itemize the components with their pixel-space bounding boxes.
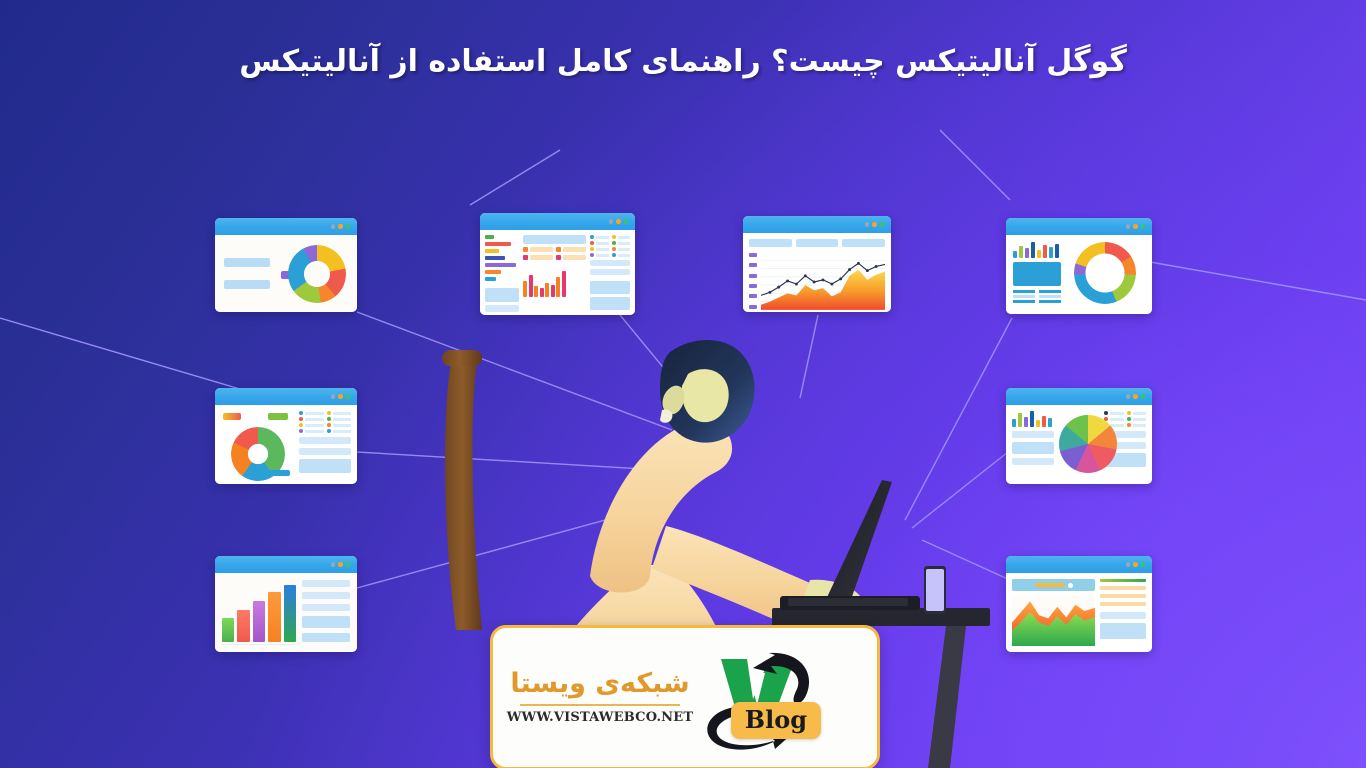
toggle-row[interactable] xyxy=(1012,579,1095,591)
kpi-chip xyxy=(842,239,885,247)
y-axis-legend xyxy=(749,252,757,310)
page-title: گوگل آنالیتیکس چیست؟ راهنمای کامل استفاد… xyxy=(0,40,1366,84)
window-dot-orange xyxy=(338,224,343,229)
kpi-chip xyxy=(749,239,792,247)
window-dot-green xyxy=(1141,394,1146,399)
head xyxy=(660,340,755,443)
pie-chart xyxy=(1059,415,1117,473)
area-line-chart xyxy=(761,252,885,310)
kpi-panel xyxy=(1013,262,1061,286)
window-titlebar xyxy=(480,213,635,230)
dashboard-card-donut-labels[interactable] xyxy=(215,218,357,312)
brand-url: WWW.VISTAWEBCO.NET xyxy=(507,710,694,725)
bar-chart xyxy=(523,267,586,297)
divider xyxy=(520,704,680,706)
dashboard-card-column-bars[interactable] xyxy=(215,556,357,652)
dashboard-card-analytics-table-bars[interactable] xyxy=(480,213,635,315)
poster-canvas: گوگل آنالیتیکس چیست؟ راهنمای کامل استفاد… xyxy=(0,0,1366,768)
window-dot-orange xyxy=(338,394,343,399)
window-dot-orange xyxy=(872,222,877,227)
callout-chip xyxy=(268,470,290,476)
donut-chart xyxy=(1074,242,1136,304)
callout-chip xyxy=(268,413,288,420)
window-dot-gray xyxy=(865,222,870,227)
dashboard-card-donut-kpi[interactable] xyxy=(1006,218,1152,314)
window-titlebar xyxy=(215,218,357,235)
window-dot-green xyxy=(346,394,351,399)
window-dot-green xyxy=(346,224,351,229)
window-dot-gray xyxy=(1126,562,1131,567)
window-dot-gray xyxy=(1126,394,1131,399)
dashboard-card-pie-segments[interactable] xyxy=(1006,388,1152,484)
area-chart xyxy=(1012,595,1095,646)
window-dot-orange xyxy=(1133,224,1138,229)
window-titlebar xyxy=(215,388,357,405)
dashboard-card-donut-callouts[interactable] xyxy=(215,388,357,484)
window-titlebar xyxy=(1006,556,1152,573)
window-titlebar xyxy=(215,556,357,573)
window-dot-green xyxy=(1141,562,1146,567)
brand-name-fa: شبکه‌ی ویستا xyxy=(510,670,689,697)
window-dot-gray xyxy=(1126,224,1131,229)
mini-bar-chart xyxy=(1012,411,1054,427)
dashboard-card-area-line-trend[interactable] xyxy=(743,216,891,312)
donut-chart xyxy=(288,245,346,303)
window-dot-gray xyxy=(331,394,336,399)
header-panel xyxy=(523,235,586,244)
kpi-chip xyxy=(796,239,839,247)
blog-badge[interactable]: Blog xyxy=(731,702,821,739)
window-dot-green xyxy=(1141,224,1146,229)
smartphone xyxy=(924,566,946,614)
window-dot-orange xyxy=(1133,394,1138,399)
bar-chart xyxy=(222,580,296,645)
window-dot-gray xyxy=(331,562,336,567)
window-dot-gray xyxy=(331,224,336,229)
callout-chip xyxy=(223,413,241,420)
window-dot-gray xyxy=(609,219,614,224)
mini-bar-chart xyxy=(1013,242,1061,258)
horizontal-bar-list xyxy=(485,235,519,312)
window-titlebar xyxy=(743,216,891,233)
recycle-arrows-icon: Blog xyxy=(695,643,815,753)
window-dot-orange xyxy=(616,219,621,224)
window-dot-green xyxy=(880,222,885,227)
label-chip xyxy=(224,258,270,267)
window-dot-green xyxy=(346,562,351,567)
window-dot-green xyxy=(624,219,629,224)
label-chip xyxy=(224,280,270,289)
brand-logo-card[interactable]: شبکه‌ی ویستا WWW.VISTAWEBCO.NET Blog xyxy=(490,625,880,768)
window-dot-orange xyxy=(1133,562,1138,567)
window-titlebar xyxy=(1006,388,1152,405)
window-titlebar xyxy=(1006,218,1152,235)
dashboard-card-area-stacked[interactable] xyxy=(1006,556,1152,652)
brand-wordmark: شبکه‌ی ویستا WWW.VISTAWEBCO.NET xyxy=(511,670,689,725)
window-dot-orange xyxy=(338,562,343,567)
